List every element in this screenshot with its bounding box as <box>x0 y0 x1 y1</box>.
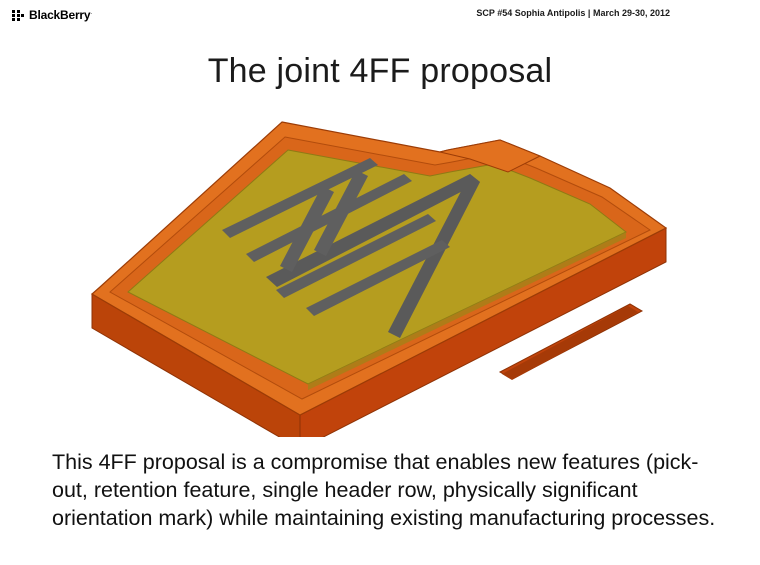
slide-header: BlackBerry. SCP #54 Sophia Antipolis | M… <box>0 0 760 30</box>
logo-wordmark-text: BlackBerry <box>29 8 90 22</box>
blackberry-dots-icon <box>12 10 25 21</box>
card-illustration <box>70 112 690 437</box>
page-title: The joint 4FF proposal <box>0 52 760 91</box>
body-paragraph: This 4FF proposal is a compromise that e… <box>52 448 732 532</box>
logo-registered-mark: . <box>90 10 91 16</box>
logo-wordmark: BlackBerry. <box>29 8 92 22</box>
header-meeting-info: SCP #54 Sophia Antipolis | March 29-30, … <box>476 8 670 18</box>
card-figure <box>70 112 690 437</box>
slide-root: BlackBerry. SCP #54 Sophia Antipolis | M… <box>0 0 760 565</box>
blackberry-logo: BlackBerry. <box>12 8 92 22</box>
